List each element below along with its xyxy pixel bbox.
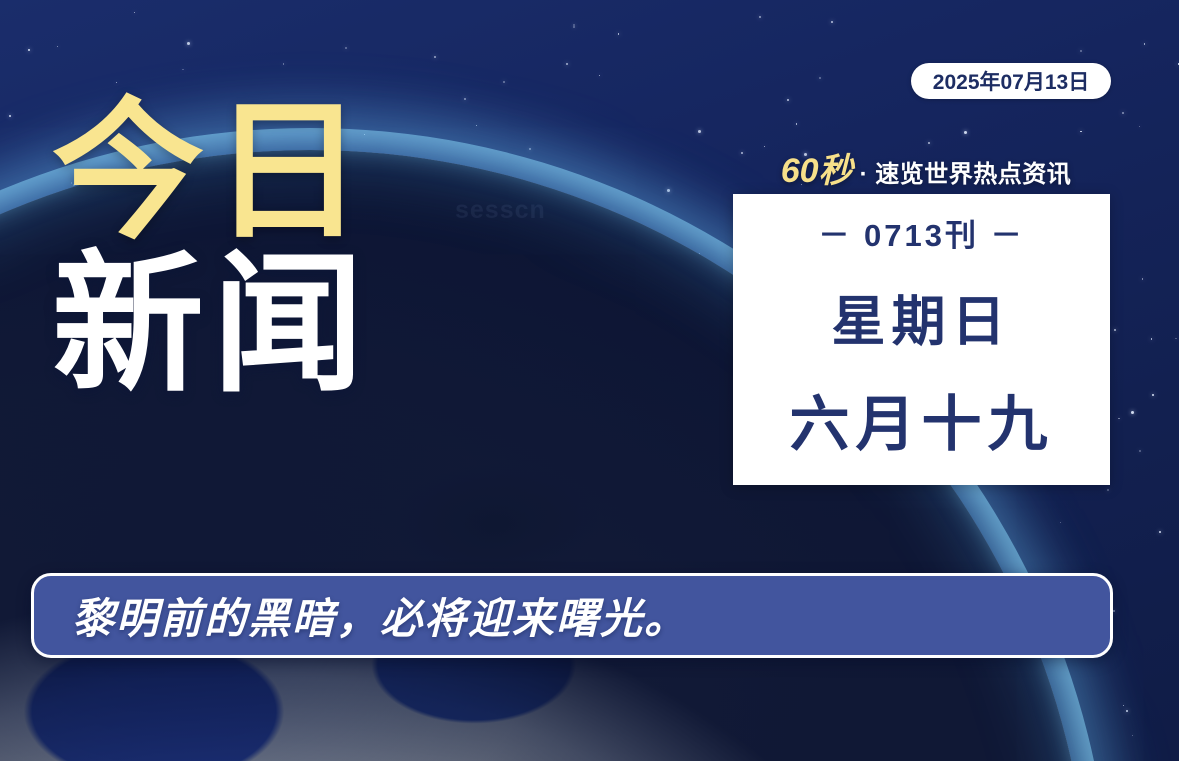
poster-title: 今日 新闻 xyxy=(52,98,372,400)
info-card: － 0713刊 － 星期日 六月十九 xyxy=(733,194,1110,485)
poster-canvas: sesscn 今日 新闻 2025年07月13日 60秒 · 速览世界热点资讯 … xyxy=(0,0,1179,761)
background-watermark: sesscn xyxy=(455,196,546,225)
page-title-line-2: 新闻 xyxy=(52,251,372,400)
date-badge: 2025年07月13日 xyxy=(911,63,1111,99)
tagline: 60秒 · 速览世界热点资讯 xyxy=(740,143,1112,192)
weekday-label: 星期日 xyxy=(832,277,1012,356)
quote-text: 黎明前的黑暗，必将迎来曙光。 xyxy=(72,585,688,646)
quote-banner: 黎明前的黑暗，必将迎来曙光。 xyxy=(31,573,1113,658)
date-badge-label: 2025年07月13日 xyxy=(933,66,1089,96)
tagline-highlight: 60秒 xyxy=(781,143,853,192)
tagline-rest: · 速览世界热点资讯 xyxy=(860,154,1072,189)
lunar-date-label: 六月十九 xyxy=(790,376,1054,463)
page-title-line-1: 今日 xyxy=(52,98,372,247)
issue-number: － 0713刊 － xyxy=(818,210,1024,255)
